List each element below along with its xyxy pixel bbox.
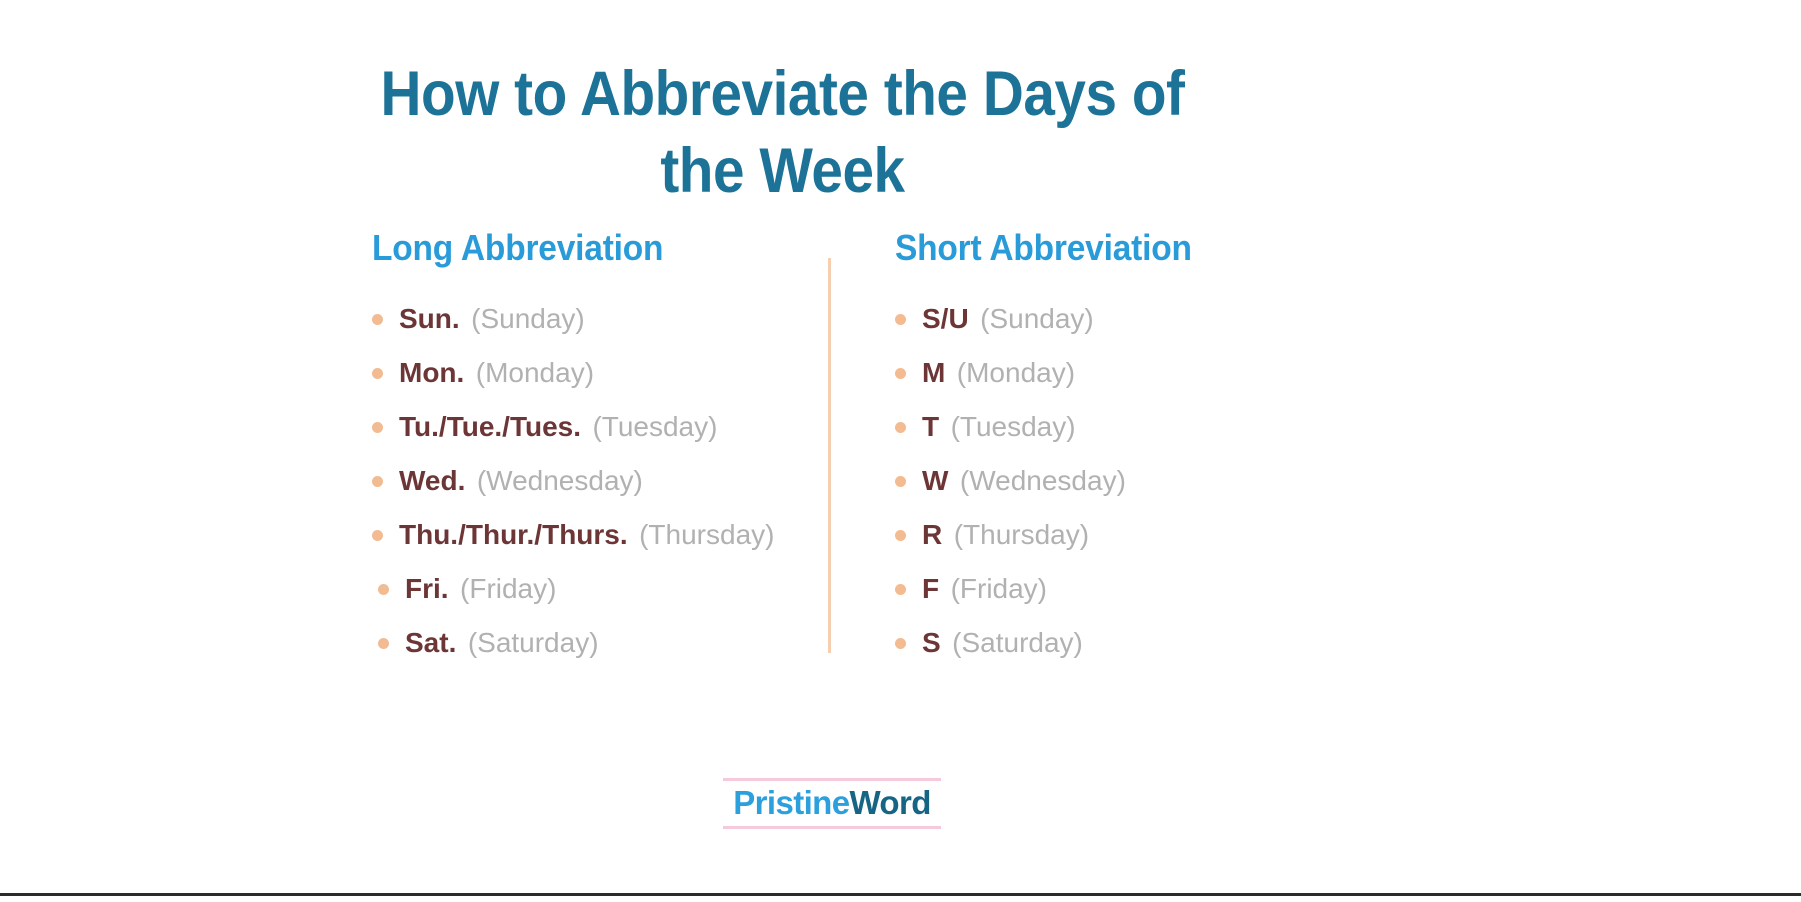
list-item: W (Wednesday) <box>895 454 1315 508</box>
full-day-name: (Friday) <box>951 573 1047 604</box>
page-title-line-1: How to Abbreviate the Days of <box>78 56 1487 133</box>
page-title: How to Abbreviate the Days of the Week <box>0 56 1565 210</box>
list-item: Sat. (Saturday) <box>372 616 812 670</box>
column-long-abbreviation: Long Abbreviation Sun. (Sunday) Mon. (Mo… <box>372 226 812 670</box>
bullet-icon <box>372 530 383 541</box>
bullet-icon <box>895 368 906 379</box>
abbreviation-text: R <box>922 519 942 550</box>
abbreviation-columns: Long Abbreviation Sun. (Sunday) Mon. (Mo… <box>0 226 1565 666</box>
list-item: F (Friday) <box>895 562 1315 616</box>
list-item: Thu./Thur./Thurs. (Thursday) <box>372 508 812 562</box>
bottom-rule <box>0 893 1801 896</box>
list-long-abbreviations: Sun. (Sunday) Mon. (Monday) Tu./Tue./Tue… <box>372 292 812 670</box>
brand-logo-primary: Pristine <box>733 784 849 821</box>
list-item: Tu./Tue./Tues. (Tuesday) <box>372 400 812 454</box>
abbreviation-text: M <box>922 357 945 388</box>
full-day-name: (Saturday) <box>952 627 1083 658</box>
column-heading-short: Short Abbreviation <box>895 226 1286 270</box>
bullet-icon <box>895 530 906 541</box>
full-day-name: (Thursday) <box>954 519 1089 550</box>
page-title-line-2: the Week <box>78 133 1487 210</box>
bullet-icon <box>372 368 383 379</box>
full-day-name: (Saturday) <box>468 627 599 658</box>
abbreviation-text: S <box>922 627 941 658</box>
bullet-icon <box>372 476 383 487</box>
list-short-abbreviations: S/U (Sunday) M (Monday) T (Tuesday) W (W… <box>895 292 1315 670</box>
list-item: R (Thursday) <box>895 508 1315 562</box>
list-item: Mon. (Monday) <box>372 346 812 400</box>
full-day-name: (Thursday) <box>639 519 774 550</box>
list-item: M (Monday) <box>895 346 1315 400</box>
bullet-icon <box>895 314 906 325</box>
abbreviation-text: F <box>922 573 939 604</box>
full-day-name: (Monday) <box>957 357 1075 388</box>
list-item: S/U (Sunday) <box>895 292 1315 346</box>
brand-logo: PristineWord <box>723 778 941 829</box>
brand-logo-text: PristineWord <box>723 782 941 824</box>
full-day-name: (Tuesday) <box>951 411 1076 442</box>
abbreviation-text: S/U <box>922 303 969 334</box>
bullet-icon <box>895 422 906 433</box>
full-day-name: (Wednesday) <box>960 465 1126 496</box>
bullet-icon <box>895 584 906 595</box>
brand-logo-secondary: Word <box>849 784 930 821</box>
list-item: Wed. (Wednesday) <box>372 454 812 508</box>
abbreviation-text: W <box>922 465 948 496</box>
column-heading-long: Long Abbreviation <box>372 226 781 270</box>
abbreviation-text: Sat. <box>405 627 456 658</box>
list-item: Fri. (Friday) <box>372 562 812 616</box>
bullet-icon <box>895 638 906 649</box>
abbreviation-text: T <box>922 411 939 442</box>
bullet-icon <box>378 584 389 595</box>
abbreviation-text: Fri. <box>405 573 449 604</box>
abbreviation-text: Mon. <box>399 357 464 388</box>
list-item: T (Tuesday) <box>895 400 1315 454</box>
full-day-name: (Sunday) <box>471 303 585 334</box>
bullet-icon <box>372 314 383 325</box>
bullet-icon <box>378 638 389 649</box>
column-divider <box>828 258 831 653</box>
abbreviation-text: Wed. <box>399 465 465 496</box>
full-day-name: (Monday) <box>476 357 594 388</box>
abbreviation-text: Sun. <box>399 303 460 334</box>
abbreviation-text: Thu./Thur./Thurs. <box>399 519 628 550</box>
full-day-name: (Tuesday) <box>592 411 717 442</box>
list-item: Sun. (Sunday) <box>372 292 812 346</box>
full-day-name: (Sunday) <box>980 303 1094 334</box>
bullet-icon <box>895 476 906 487</box>
abbreviation-text: Tu./Tue./Tues. <box>399 411 581 442</box>
list-item: S (Saturday) <box>895 616 1315 670</box>
full-day-name: (Wednesday) <box>477 465 643 496</box>
slide-canvas: How to Abbreviate the Days of the Week L… <box>0 0 1801 902</box>
column-short-abbreviation: Short Abbreviation S/U (Sunday) M (Monda… <box>895 226 1315 670</box>
bullet-icon <box>372 422 383 433</box>
full-day-name: (Friday) <box>460 573 556 604</box>
